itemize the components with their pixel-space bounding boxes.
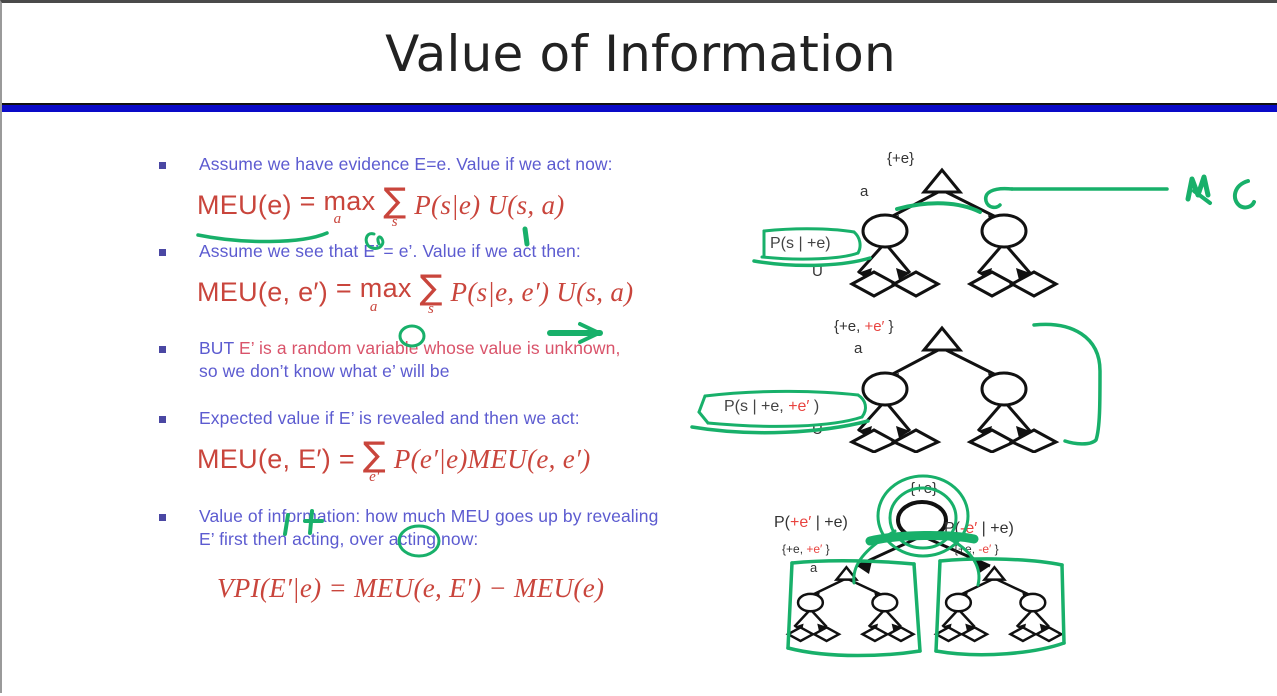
eq2-rhs: P(s|e, e′) U(s, a): [451, 277, 634, 307]
bullet-item-3: BUT E’ is a random variable whose value …: [157, 337, 629, 383]
bullet-text-3c: so we don’t know what e’ will be: [199, 361, 450, 381]
top-root-label: {+e}: [887, 150, 914, 167]
diagram-expected-value: {+e} P(+e′ | +e) P(-e′ | +e) {+e, +e′ } …: [762, 478, 1082, 653]
bullet-item-5: Value of information: how much MEU goes …: [157, 505, 669, 551]
top-utility-label: U: [812, 263, 823, 280]
top-ink-box-label: P(s | +e): [770, 235, 831, 253]
bullet-text-5: Value of information: how much MEU goes …: [199, 506, 658, 549]
eq1-lhs: MEU(e): [197, 190, 292, 220]
bullet-text-4: Expected value if E’ is revealed and the…: [199, 408, 580, 428]
bot-root-label: {+e}: [910, 480, 937, 497]
eq1-sum: ∑ s: [383, 188, 406, 230]
bullet-list: Assume we have evidence E=e. Value if we…: [157, 153, 757, 604]
bot-left-branch-label: {+e, +e′ }: [782, 542, 830, 556]
mid-ink-box-label: P(s | +e, +e′ ): [724, 398, 819, 416]
page-title: Value of Information: [2, 25, 1277, 83]
bullet-text-2: Assume we see that E’ = e’. Value if we …: [199, 241, 581, 261]
bot-left-prob-label: P(+e′ | +e): [774, 514, 848, 532]
eq1-rhs: P(s|e) U(s, a): [414, 190, 564, 220]
slide: Value of Information Assume we have evid…: [0, 0, 1277, 693]
eq2-sum: ∑ s: [420, 275, 443, 317]
corner-scribble-icon: [1188, 177, 1254, 207]
bullet-marker-icon: [159, 416, 166, 423]
eq3-sum: ∑ e′: [363, 442, 386, 484]
equation-4: VPI(E′|e) = MEU(e, E′) − MEU(e): [217, 573, 757, 604]
equation-1: MEU(e) = max a ∑ s P(s|e) U(s, a): [197, 186, 757, 228]
bot-right-prob-label: P(-e′ | +e): [944, 520, 1014, 538]
bullet-text-3a: BUT: [199, 338, 239, 358]
bot-action-label: a: [810, 560, 817, 575]
diagram-act-after-evidence: {+e, +e′ } a U: [742, 318, 1082, 453]
top-tree-graphic: [742, 148, 1082, 298]
mid-utility-label: U: [812, 421, 823, 438]
title-divider: [2, 103, 1277, 112]
bot-right-branch-label: {+e, -e′ }: [954, 542, 999, 556]
bullet-marker-icon: [159, 249, 166, 256]
bullet-item-4: Expected value if E’ is revealed and the…: [157, 407, 757, 430]
eq3-rhs: P(e′|e)MEU(e, e′): [394, 445, 591, 475]
bullet-item-1: Assume we have evidence E=e. Value if we…: [157, 153, 757, 176]
bullet-marker-icon: [159, 346, 166, 353]
bullet-text-1: Assume we have evidence E=e. Value if we…: [199, 154, 613, 174]
equation-2: MEU(e, e′) = max a ∑ s P(s|e, e′) U(s, a…: [197, 273, 757, 315]
bullet-marker-icon: [159, 162, 166, 169]
diagram-act-now: {+e} a U: [742, 148, 1082, 298]
eq2-lhs: MEU(e, e′): [197, 277, 328, 307]
mid-root-label: {+e, +e′ }: [834, 318, 894, 335]
mid-tree-graphic: [742, 318, 1082, 453]
eq2-max: = max a: [336, 278, 412, 315]
eq3-op: =: [339, 445, 355, 475]
bullet-text-3b: E’ is a random variable whose value is u…: [239, 338, 620, 358]
bullet-item-2: Assume we see that E’ = e’. Value if we …: [157, 240, 757, 263]
mid-action-label: a: [854, 340, 862, 357]
eq1-max: = max a: [300, 191, 376, 228]
top-action-label: a: [860, 183, 868, 200]
bullet-marker-icon: [159, 514, 166, 521]
equation-3: MEU(e, E′) = ∑ e′ P(e′|e)MEU(e, e′): [197, 440, 757, 482]
eq3-lhs: MEU(e, E′): [197, 445, 331, 475]
